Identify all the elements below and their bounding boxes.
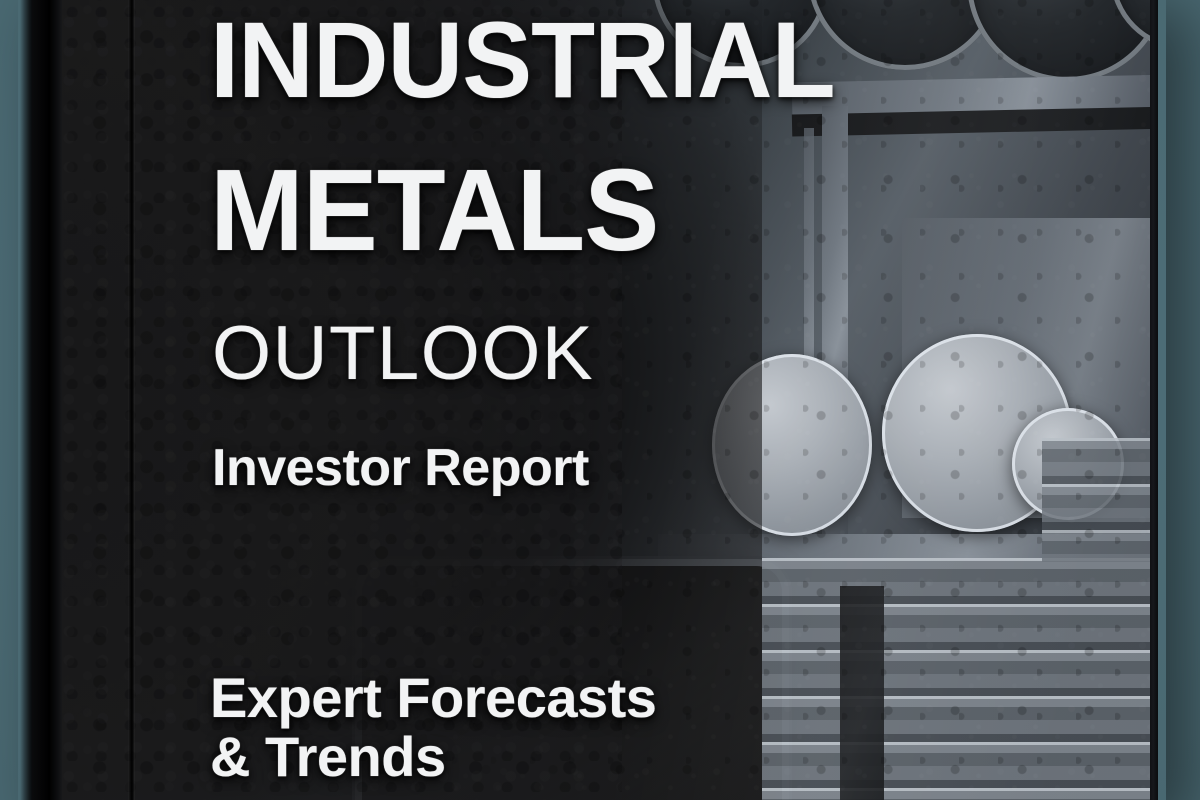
- cover-mockup-stage: INDUSTRIAL METALS OUTLOOK Investor Repor…: [0, 0, 1200, 800]
- book-front-cover[interactable]: INDUSTRIAL METALS OUTLOOK Investor Repor…: [62, 0, 1158, 800]
- cover-text-layer: INDUSTRIAL METALS OUTLOOK Investor Repor…: [62, 0, 1158, 800]
- cover-tagline: Expert Forecasts & Trends: [210, 668, 656, 787]
- book-spine: [32, 0, 62, 800]
- cover-title-line-1: INDUSTRIAL: [210, 6, 835, 114]
- cover-right-board-edge: [1150, 0, 1158, 800]
- cover-title-line-2: METALS: [210, 152, 658, 268]
- cover-title-line-3: OUTLOOK: [212, 316, 594, 392]
- book-object[interactable]: INDUSTRIAL METALS OUTLOOK Investor Repor…: [20, 0, 1162, 800]
- book-page-edge: [20, 0, 32, 800]
- cover-subtitle: Investor Report: [212, 442, 589, 494]
- cover-hinge-crease: [128, 0, 135, 800]
